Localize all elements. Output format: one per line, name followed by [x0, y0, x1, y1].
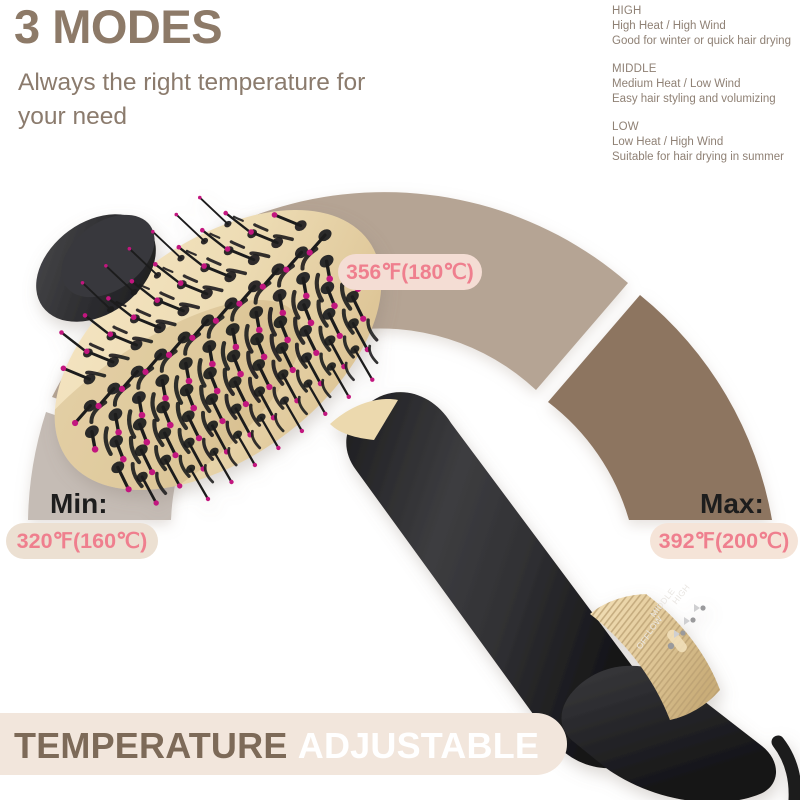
mode-spec-low: Low Heat / High Wind: [612, 135, 800, 150]
page-title: 3 MODES: [14, 0, 222, 54]
mode-desc-low: Suitable for hair drying in summer: [612, 150, 800, 165]
min-label: Min:: [50, 488, 108, 520]
mode-spec-middle: Medium Heat / Low Wind: [612, 77, 800, 92]
mode-name-low: LOW: [612, 120, 800, 135]
switch-label-middle: MIDDLE: [648, 586, 677, 619]
page-subtitle: Always the right temperature for your ne…: [18, 66, 398, 134]
mode-switch-labels: HIGH MIDDLE LOW OFF: [634, 592, 744, 672]
banner-word-temperature: TEMPERATURE: [14, 725, 288, 766]
switch-label-off: OFF: [634, 631, 653, 651]
temperature-badge-min: 320℉(160℃): [6, 523, 158, 559]
mode-name-middle: MIDDLE: [612, 62, 800, 77]
mode-desc-high: Good for winter or quick hair drying: [612, 34, 800, 49]
bottom-banner-text: TEMPERATURE ADJUSTABLE: [14, 725, 539, 767]
mode-item-middle: MIDDLE Medium Heat / Low Wind Easy hair …: [612, 62, 800, 107]
power-cord: [778, 742, 795, 800]
mode-item-low: LOW Low Heat / High Wind Suitable for ha…: [612, 120, 800, 165]
mode-spec-high: High Heat / High Wind: [612, 19, 800, 34]
banner-word-adjustable: ADJUSTABLE: [298, 725, 539, 766]
mode-list: HIGH High Heat / High Wind Good for wint…: [612, 4, 800, 178]
mode-desc-middle: Easy hair styling and volumizing: [612, 92, 800, 107]
product-infographic: 3 MODES Always the right temperature for…: [0, 0, 800, 800]
max-label: Max:: [700, 488, 764, 520]
mode-name-high: HIGH: [612, 4, 800, 19]
temperature-badge-middle: 356℉(180℃): [338, 254, 482, 290]
temperature-badge-max: 392℉(200℃): [650, 523, 798, 559]
mode-item-high: HIGH High Heat / High Wind Good for wint…: [612, 4, 800, 49]
